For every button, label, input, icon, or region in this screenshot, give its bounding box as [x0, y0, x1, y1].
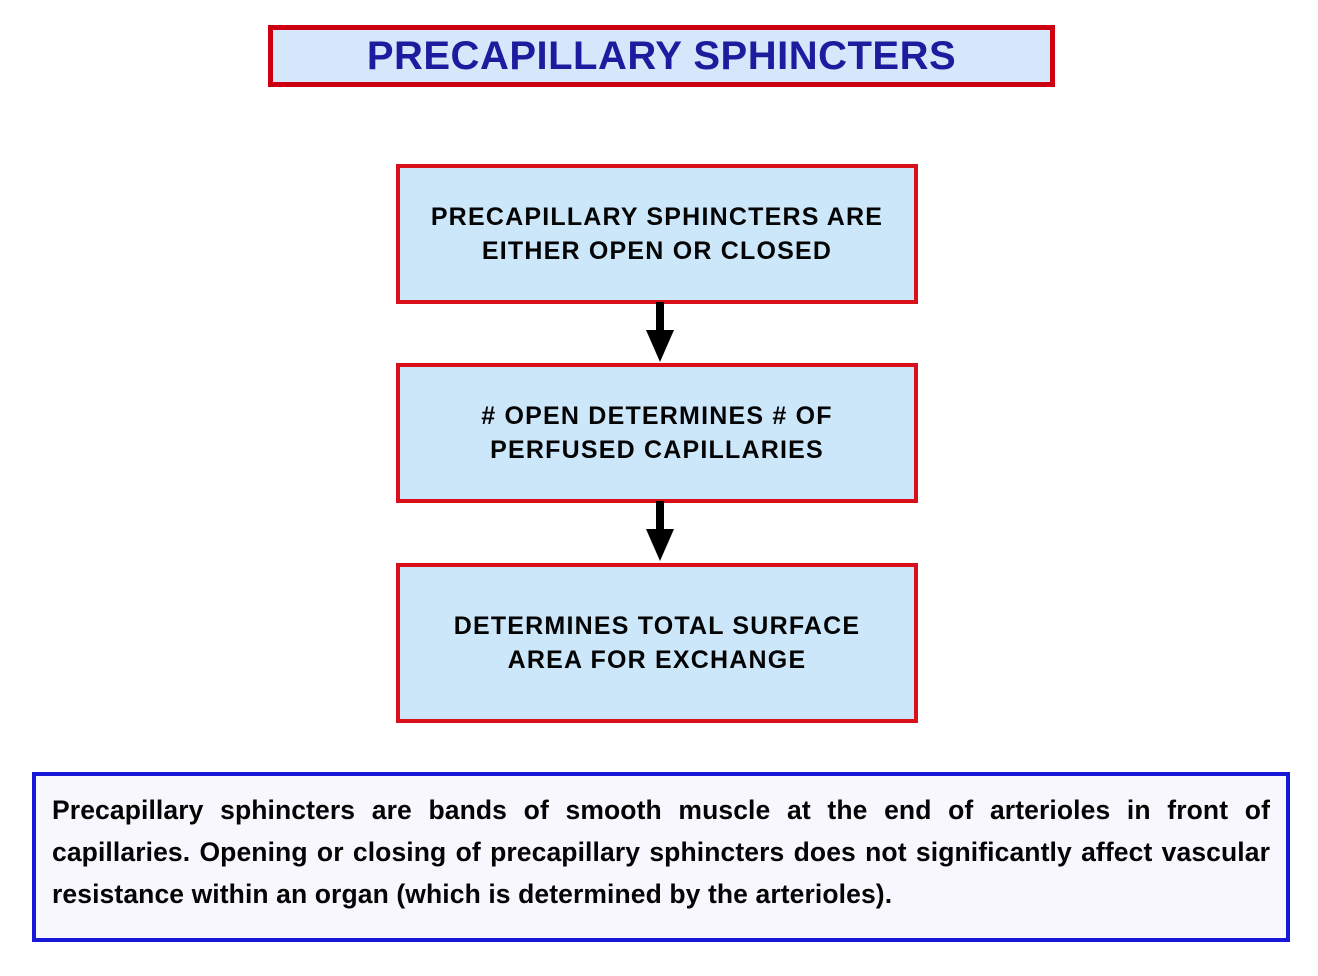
description-panel: Precapillary sphincters are bands of smo…: [32, 772, 1290, 942]
down-arrow-icon: [644, 501, 676, 561]
down-arrow-glyph: [644, 302, 676, 362]
flowchart-node-1: PRECAPILLARY SPHINCTERS ARE EITHER OPEN …: [396, 164, 918, 304]
flowchart-node-1-label: PRECAPILLARY SPHINCTERS ARE EITHER OPEN …: [400, 200, 914, 269]
flowchart-node-2-label: # OPEN DETERMINES # OF PERFUSED CAPILLAR…: [400, 399, 914, 468]
description-paragraph: Precapillary sphincters are bands of smo…: [52, 790, 1270, 916]
page-title-banner: PRECAPILLARY SPHINCTERS: [268, 25, 1055, 87]
page-title: PRECAPILLARY SPHINCTERS: [367, 36, 956, 76]
flowchart-node-3: DETERMINES TOTAL SURFACE AREA FOR EXCHAN…: [396, 563, 918, 723]
down-arrow-glyph: [644, 501, 676, 561]
down-arrow-icon: [644, 302, 676, 362]
flowchart-node-3-label: DETERMINES TOTAL SURFACE AREA FOR EXCHAN…: [400, 609, 914, 678]
flowchart-node-2: # OPEN DETERMINES # OF PERFUSED CAPILLAR…: [396, 363, 918, 503]
